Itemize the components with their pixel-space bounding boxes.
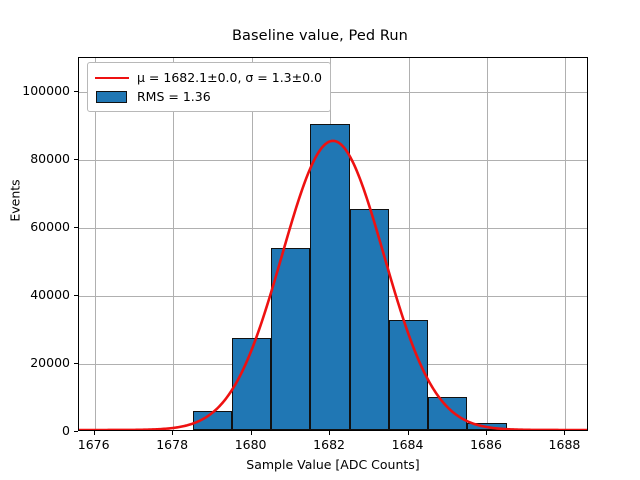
y-axis-tick-label: 20000 (0, 355, 70, 370)
x-axis-tick-label: 1682 (294, 437, 364, 452)
y-axis-tick (74, 91, 78, 92)
gaussian-fit-curve (79, 58, 587, 430)
y-axis-tick (74, 431, 78, 432)
x-axis-tick-label: 1686 (451, 437, 521, 452)
plot-area (78, 57, 588, 431)
x-axis-tick (251, 431, 252, 435)
x-axis-tick-label: 1684 (373, 437, 443, 452)
legend-label-fit: μ = 1682.1±0.0, σ = 1.3±0.0 (137, 70, 322, 85)
y-axis-tick-label: 100000 (0, 83, 70, 98)
y-axis-tick-label: 0 (0, 423, 70, 438)
x-axis-tick (408, 431, 409, 435)
x-axis-tick (329, 431, 330, 435)
y-axis-tick (74, 227, 78, 228)
x-axis-tick (94, 431, 95, 435)
matplotlib-figure: Baseline value, Ped Run 1676167816801682… (0, 0, 640, 480)
y-axis-tick (74, 295, 78, 296)
legend-patch-swatch (95, 90, 129, 104)
y-axis-tick (74, 159, 78, 160)
x-axis-tick (172, 431, 173, 435)
legend-item-fit: μ = 1682.1±0.0, σ = 1.3±0.0 (95, 68, 322, 87)
legend: μ = 1682.1±0.0, σ = 1.3±0.0 RMS = 1.36 (87, 62, 331, 112)
x-axis-tick-label: 1676 (59, 437, 129, 452)
legend-item-rms: RMS = 1.36 (95, 87, 322, 106)
x-axis-label: Sample Value [ADC Counts] (78, 457, 588, 472)
page-title: Baseline value, Ped Run (0, 28, 640, 44)
x-axis-tick-label: 1678 (137, 437, 207, 452)
x-axis-tick (564, 431, 565, 435)
legend-line-swatch (95, 71, 129, 85)
legend-label-rms: RMS = 1.36 (137, 89, 211, 104)
y-axis-label: Events (8, 101, 23, 301)
x-axis-tick-label: 1688 (529, 437, 599, 452)
x-axis-tick-label: 1680 (216, 437, 286, 452)
x-axis-tick (486, 431, 487, 435)
y-axis-tick (74, 363, 78, 364)
